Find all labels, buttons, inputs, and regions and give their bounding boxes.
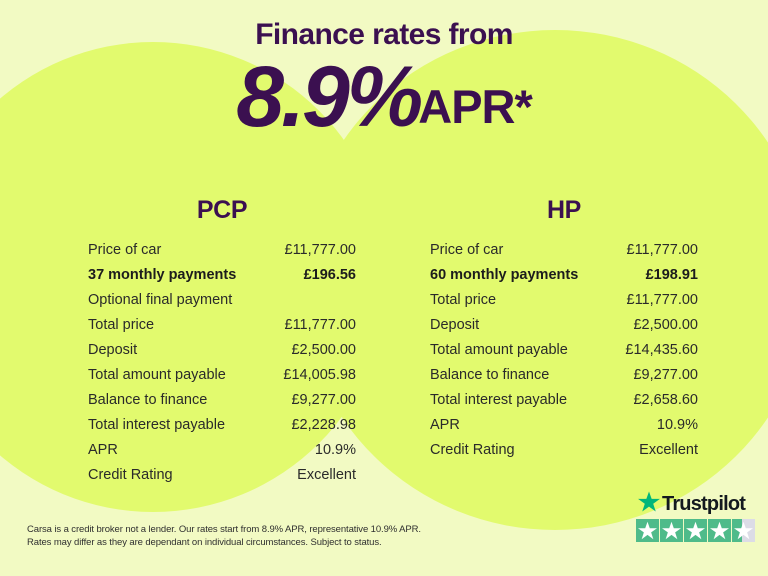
plan-row-value: £11,777.00 — [285, 317, 357, 333]
plan-row: Total interest payable£2,228.98 — [88, 417, 356, 442]
plan-row-label: Deposit — [88, 342, 137, 358]
trustpilot-star-tile — [732, 519, 755, 542]
plan-rows-hp: Price of car£11,777.0060 monthly payment… — [430, 242, 698, 467]
plan-row-value: £9,277.00 — [633, 367, 698, 383]
plan-row: Price of car£11,777.00 — [430, 242, 698, 267]
plan-row-value: £11,777.00 — [285, 242, 357, 258]
rate-value: 8.9% — [236, 49, 420, 145]
plan-rows-pcp: Price of car£11,777.0037 monthly payment… — [88, 242, 356, 492]
plan-row-label: 60 monthly payments — [430, 267, 578, 283]
plan-row-label: Total amount payable — [88, 367, 226, 383]
plan-row-label: Total price — [88, 317, 154, 333]
plan-row-label: Total interest payable — [88, 417, 225, 433]
plan-row-value: Excellent — [297, 467, 356, 483]
plan-row-value: £2,658.60 — [633, 392, 698, 408]
headline-rate: 8.9%APR* — [0, 54, 768, 165]
trustpilot-wordmark: Trustpilot — [638, 492, 758, 516]
plan-row-label: Optional final payment — [88, 292, 232, 308]
plan-row: APR10.9% — [88, 442, 356, 467]
plan-row-value: Excellent — [639, 442, 698, 458]
plan-row-value: £11,777.00 — [627, 292, 699, 308]
plan-row-value: £2,500.00 — [633, 317, 698, 333]
plan-row-label: APR — [430, 417, 460, 433]
plan-row: Total interest payable£2,658.60 — [430, 392, 698, 417]
plan-row-label: Credit Rating — [430, 442, 515, 458]
finance-rates-poster: Finance rates from 8.9%APR* PCP Price of… — [0, 0, 768, 576]
trustpilot-star-icon — [638, 491, 660, 517]
plan-row-value: £11,777.00 — [627, 242, 699, 258]
plan-row: Credit RatingExcellent — [430, 442, 698, 467]
plan-row-value: £2,228.98 — [291, 417, 356, 433]
plan-row: Credit RatingExcellent — [88, 467, 356, 492]
plan-title-hp: HP — [430, 196, 698, 225]
plan-row-value: £9,277.00 — [291, 392, 356, 408]
plan-row-label: Balance to finance — [430, 367, 549, 383]
plan-row-value: £14,005.98 — [283, 367, 356, 383]
plan-row: Total price£11,777.00 — [88, 317, 356, 342]
page-title: Finance rates from — [0, 18, 768, 52]
plan-row-label: Price of car — [88, 242, 161, 258]
plan-row-value: 10.9% — [657, 417, 698, 433]
plan-row: APR10.9% — [430, 417, 698, 442]
disclaimer-line-1: Carsa is a credit broker not a lender. O… — [27, 523, 457, 536]
plan-row: Deposit£2,500.00 — [430, 317, 698, 342]
trustpilot-name: Trustpilot — [662, 493, 745, 516]
plan-column-pcp: PCP Price of car£11,777.0037 monthly pay… — [88, 196, 356, 492]
plan-row: Total amount payable£14,435.60 — [430, 342, 698, 367]
disclaimer-line-2: Rates may differ as they are dependant o… — [27, 536, 457, 549]
plan-row-label: APR — [88, 442, 118, 458]
trustpilot-star-tile — [684, 519, 707, 542]
trustpilot-rating: Trustpilot — [636, 492, 758, 542]
plan-row: Price of car£11,777.00 — [88, 242, 356, 267]
plan-row-value: £2,500.00 — [291, 342, 356, 358]
plan-row-label: Credit Rating — [88, 467, 173, 483]
plan-row: Balance to finance£9,277.00 — [430, 367, 698, 392]
plan-row: 60 monthly payments£198.91 — [430, 267, 698, 292]
plan-row-label: Deposit — [430, 317, 479, 333]
disclaimer: Carsa is a credit broker not a lender. O… — [27, 523, 457, 549]
trustpilot-star-tile — [708, 519, 731, 542]
plan-row: Total price£11,777.00 — [430, 292, 698, 317]
trustpilot-stars — [636, 519, 758, 542]
plan-row-label: Total price — [430, 292, 496, 308]
trustpilot-star-tile — [660, 519, 683, 542]
plan-row: Deposit£2,500.00 — [88, 342, 356, 367]
plan-row: 37 monthly payments£196.56 — [88, 267, 356, 292]
plan-row-value: 10.9% — [315, 442, 356, 458]
plan-row-value: £198.91 — [646, 267, 698, 283]
rate-apr-label: APR* — [418, 80, 532, 133]
headline-block: Finance rates from 8.9%APR* — [0, 18, 768, 165]
plan-row-label: Price of car — [430, 242, 503, 258]
plan-title-pcp: PCP — [88, 196, 356, 225]
plan-row-value: £14,435.60 — [625, 342, 698, 358]
plan-row-label: 37 monthly payments — [88, 267, 236, 283]
plan-row-label: Balance to finance — [88, 392, 207, 408]
plan-row-label: Total amount payable — [430, 342, 568, 358]
plan-row: Total amount payable£14,005.98 — [88, 367, 356, 392]
plan-row-label: Total interest payable — [430, 392, 567, 408]
plan-row: Optional final payment — [88, 292, 356, 317]
plan-row-value: £196.56 — [304, 267, 356, 283]
plan-column-hp: HP Price of car£11,777.0060 monthly paym… — [430, 196, 698, 467]
trustpilot-star-tile — [636, 519, 659, 542]
plan-row: Balance to finance£9,277.00 — [88, 392, 356, 417]
